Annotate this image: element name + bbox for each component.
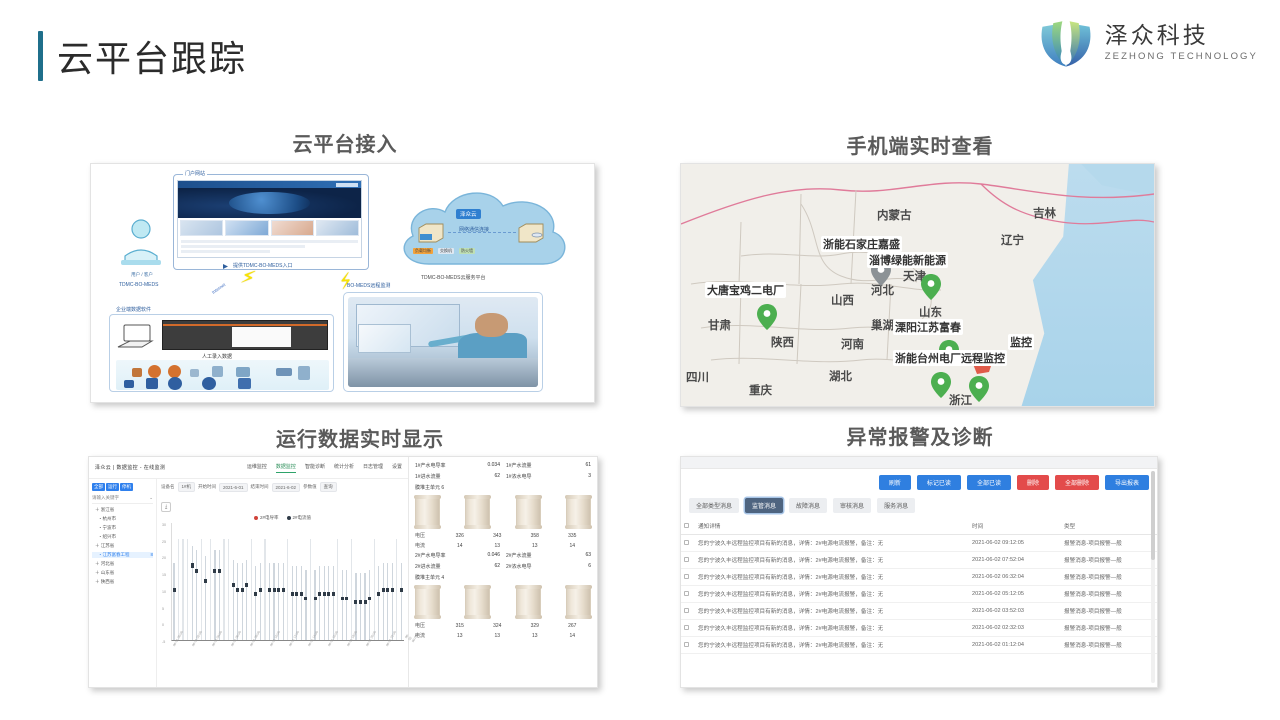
alarm-time: 2021-06-02 02:32:03 xyxy=(969,620,1061,637)
readings-value: 13 xyxy=(516,633,554,639)
readings-row: 电流14131314 xyxy=(415,542,591,549)
y-axis-tick: 20 xyxy=(162,556,166,560)
tree-item[interactable]: ＋ 陕西省 xyxy=(92,579,153,585)
y-axis-tick: 0 xyxy=(162,623,164,627)
y-axis-tick: 15 xyxy=(162,573,166,577)
alarm-type: 报警消息-项目报警—般 xyxy=(1061,535,1157,552)
site-label[interactable]: 溧阳江苏富春 xyxy=(893,319,963,335)
row-checkbox-cell[interactable] xyxy=(681,569,695,586)
dashboard-nav-item[interactable]: 日志管理 xyxy=(363,463,383,473)
panel-realtime-data: 泽众云 | 数据监控 - 在线监测 运维监控数据监控智能诊断统计分析日志管理设置… xyxy=(88,456,598,688)
chart-bar xyxy=(333,566,334,640)
table-row[interactable]: 您的宁波久丰远程监控项目有新的消息，详情：2#电源电流报警，备注：无2021-0… xyxy=(681,535,1157,552)
server-icon xyxy=(416,222,446,244)
alarm-tab[interactable]: 审核消息 xyxy=(833,498,871,513)
chart-bar xyxy=(233,560,234,640)
website-hero-globe xyxy=(178,188,361,218)
portal-website-screenshot xyxy=(177,180,362,258)
readings-value: 267 xyxy=(554,623,592,629)
membrane-stack-icon xyxy=(465,585,490,619)
checkbox-icon[interactable] xyxy=(684,557,689,562)
chart-bar xyxy=(210,539,211,640)
alarm-action-button[interactable]: 删除 xyxy=(1017,475,1049,490)
panel-alarm-diagnosis: 刷新标记已读全部已读删除全部删除导出报表 全部类型消息监管消息故障消息审核消息服… xyxy=(680,456,1158,688)
user-icon xyxy=(113,216,169,274)
dashboard-nav-item[interactable]: 智能诊断 xyxy=(305,463,325,473)
chart-bar xyxy=(196,550,197,640)
tree-item[interactable]: ＋ 江苏省 xyxy=(92,543,153,549)
chart-bar-cap xyxy=(391,588,394,592)
chart-bar-cap xyxy=(291,592,294,596)
membrane-stack-icon xyxy=(516,495,541,529)
tree-item-badge: 8 xyxy=(150,552,153,557)
alarm-time: 2021-06-02 01:12:04 xyxy=(969,637,1061,654)
alarm-tab[interactable]: 故障消息 xyxy=(789,498,827,513)
alarm-detail[interactable]: 您的宁波久丰远程监控项目有新的消息，详情：2#电源电流报警，备注：无 xyxy=(695,637,969,654)
device-tree: 全部运行停机 请输入关键字 ⌄ ＋ 浙江省・杭州市・宁波市・绍兴市＋ 江苏省・江… xyxy=(89,479,157,687)
param-filter-label: 参数值 xyxy=(303,484,317,490)
website-topbar xyxy=(178,181,361,188)
chart-bar-cap xyxy=(195,569,198,574)
alarm-table-header: 通知详情 时间 类型 xyxy=(681,518,1157,535)
website-card xyxy=(225,220,268,236)
website-text-row xyxy=(181,245,305,248)
chart-bar xyxy=(346,570,347,640)
cloud-access-diagram: 用户 / 客户 门户网站 提供TDMC-BO-MEDS入口 Internet ⚡… xyxy=(91,164,594,402)
checkbox-icon[interactable] xyxy=(684,625,689,630)
metric-label: 1#产水电导率 xyxy=(415,462,446,469)
unit-readings-table: 电压315324329267电流13131314 xyxy=(415,622,591,639)
province-label: 陕西 xyxy=(771,334,794,350)
province-label: 河南 xyxy=(841,336,864,352)
alarm-type: 报警消息-项目报警—般 xyxy=(1061,569,1157,586)
readings-row: 电流13131314 xyxy=(415,632,591,639)
chart-bar xyxy=(205,556,206,640)
computer-icon xyxy=(116,323,156,349)
chart-bar xyxy=(187,539,188,640)
chart-bar xyxy=(337,539,338,640)
cloud-caption: TDMC-BO-MEDS云服务平台 xyxy=(421,274,485,281)
metric-value: 62 xyxy=(494,563,500,570)
portal-label: 门户网站 xyxy=(183,170,207,177)
chart-bar-cap xyxy=(332,592,335,596)
readings-label: 电压 xyxy=(415,532,441,539)
table-row[interactable]: 您的宁波久丰远程监控项目有新的消息，详情：2#电源电流报警，备注：无2021-0… xyxy=(681,603,1157,620)
website-card xyxy=(180,220,223,236)
metric-row: 2#产水流量63 xyxy=(506,552,591,559)
alarm-detail[interactable]: 您的宁波久丰远程监控项目有新的消息，详情：2#电源电流报警，备注：无 xyxy=(695,586,969,603)
alarm-type: 报警消息-项目报警—般 xyxy=(1061,637,1157,654)
alarm-time: 2021-06-02 06:32:04 xyxy=(969,569,1061,586)
alarm-action-button[interactable]: 刷新 xyxy=(879,475,911,490)
user-label: 用户 / 客户 xyxy=(113,272,171,278)
device-filter-label: 设备名 xyxy=(161,484,175,490)
alarm-tab[interactable]: 全部类型消息 xyxy=(689,498,739,513)
process-flow-diagram xyxy=(116,360,329,390)
alarm-action-button[interactable]: 导出报表 xyxy=(1105,475,1149,490)
chart-bar-cap xyxy=(268,588,271,592)
metric-label: 1#进水流量 xyxy=(415,473,441,480)
province-label: 重庆 xyxy=(749,382,772,398)
tree-item[interactable]: ・江苏富春工程8 xyxy=(92,552,153,558)
panel-title-alarm: 异常报警及诊断 xyxy=(770,421,1070,450)
dashboard-nav[interactable]: 运维监控数据监控智能诊断统计分析日志管理设置 xyxy=(247,463,402,473)
y-axis-tick: -5 xyxy=(162,640,165,644)
flow-node xyxy=(148,365,161,378)
province-label: 内蒙古 xyxy=(877,207,912,223)
dashboard-nav-item[interactable]: 数据监控 xyxy=(276,463,296,473)
chart-bar xyxy=(255,566,256,640)
alarm-detail[interactable]: 您的宁波久丰远程监控项目有新的消息，详情：2#电源电流报警，备注：无 xyxy=(695,603,969,620)
panel-title-cloud-access: 云平台接入 xyxy=(200,128,490,157)
row-checkbox-cell[interactable] xyxy=(681,603,695,620)
alarm-table: 通知详情 时间 类型 您的宁波久丰远程监控项目有新的消息，详情：2#电源电流报警… xyxy=(681,518,1157,654)
alarm-tab[interactable]: 监管消息 xyxy=(745,498,783,513)
chart-filters[interactable]: 设备名 1#机 开始时间 2021-6-01 结束时间 2021-6-02 参数… xyxy=(161,482,404,492)
checkbox-icon[interactable] xyxy=(684,591,689,596)
chart-bar xyxy=(396,539,397,640)
enterprise-software-box: 企业端数据软件 人工录入数据 xyxy=(109,314,334,392)
metric-value: 0.034 xyxy=(487,462,500,469)
data-dashboard: 泽众云 | 数据监控 - 在线监测 运维监控数据监控智能诊断统计分析日志管理设置… xyxy=(89,457,597,687)
brand-name-cn: 泽众科技 xyxy=(1105,24,1258,48)
chart-bar-cap xyxy=(245,583,248,587)
chart-bar-cap xyxy=(314,597,317,601)
chart-bar xyxy=(283,563,284,640)
row-checkbox-cell[interactable] xyxy=(681,586,695,603)
chart-bar-cap xyxy=(364,600,367,603)
page-title: 云平台跟踪 xyxy=(38,30,247,82)
chart-bar xyxy=(246,560,247,640)
query-button[interactable]: 查询 xyxy=(320,482,337,492)
metric-value: 3 xyxy=(588,473,591,480)
legend-entry: 2#电导率 xyxy=(254,515,279,521)
tree-item[interactable]: ・杭州市 xyxy=(92,516,153,522)
alarm-action-button[interactable]: 标记已读 xyxy=(917,475,961,490)
col-detail: 通知详情 xyxy=(695,518,969,535)
chart-bar xyxy=(214,550,215,640)
tree-search-row[interactable]: 请输入关键字 ⌄ xyxy=(92,495,153,504)
y-axis-tick: 30 xyxy=(162,523,166,527)
chart-bar xyxy=(296,566,297,640)
readings-value: 343 xyxy=(479,533,517,539)
chart-bar xyxy=(192,546,193,640)
alarm-topbar xyxy=(681,457,1157,469)
membrane-stack-group xyxy=(415,495,591,529)
chart-bar xyxy=(237,563,238,640)
readings-row: 电压326343358335 xyxy=(415,532,591,539)
tree-filter-button[interactable]: 全部 xyxy=(92,483,105,491)
start-date-label: 开始时间 xyxy=(198,484,216,490)
remote-monitor-label: BO-MEDS远程监测 xyxy=(347,282,390,289)
metric-value: 63 xyxy=(585,552,591,559)
tree-item-list[interactable]: ＋ 浙江省・杭州市・宁波市・绍兴市＋ 江苏省・江苏富春工程8＋ 河北省＋ 山东省… xyxy=(92,507,153,585)
chart-bar xyxy=(360,573,361,640)
chart-bar-cap xyxy=(368,597,371,601)
metric-value: 62 xyxy=(494,473,500,480)
col-time: 时间 xyxy=(969,518,1061,535)
tree-filter-buttons[interactable]: 全部运行停机 xyxy=(92,483,153,491)
start-date-input[interactable]: 2021-6-01 xyxy=(219,483,248,492)
province-label: 吉林 xyxy=(1033,205,1056,221)
dashboard-nav-item[interactable]: 运维监控 xyxy=(247,463,267,473)
metric-label: 1#浓水电导 xyxy=(506,473,532,480)
chart-bar xyxy=(378,566,379,640)
control-room-photo xyxy=(343,292,543,392)
checkbox-icon[interactable] xyxy=(684,608,689,613)
alarm-time: 2021-06-02 09:12:05 xyxy=(969,535,1061,552)
chart-bar xyxy=(374,539,375,640)
readings-value: 14 xyxy=(554,543,592,549)
website-card xyxy=(316,220,359,236)
membrane-stack-icon xyxy=(415,585,440,619)
alarm-detail[interactable]: 您的宁波久丰远程监控项目有新的消息，详情：2#电源电流报警，备注：无 xyxy=(695,552,969,569)
alarm-tab[interactable]: 服务消息 xyxy=(877,498,915,513)
chart-bar-cap xyxy=(204,579,207,583)
site-label[interactable]: 浙能石家庄嘉盛 xyxy=(821,236,902,252)
chart-bar xyxy=(178,539,179,640)
chart-bar-cap xyxy=(236,588,239,592)
flow-node xyxy=(168,377,182,390)
map-pin-icon[interactable] xyxy=(931,372,951,398)
scrollbar-thumb[interactable] xyxy=(1151,471,1155,560)
network-label: 网络通信连接 xyxy=(459,226,489,233)
checkbox-icon[interactable] xyxy=(684,540,689,545)
readings-value: 13 xyxy=(441,633,479,639)
legend-item: 交换机 xyxy=(438,248,454,254)
alarm-time: 2021-06-02 03:52:03 xyxy=(969,603,1061,620)
lightning-icon: ⚡ xyxy=(239,267,257,290)
tree-item[interactable]: ・宁波市 xyxy=(92,525,153,531)
manual-entry-label: 人工录入数据 xyxy=(202,353,232,360)
readings-value: 329 xyxy=(516,623,554,629)
metric-value: 61 xyxy=(585,462,591,469)
legend-item: 防火墙 xyxy=(459,248,475,254)
col-type: 类型 xyxy=(1061,518,1157,535)
tree-item[interactable]: ＋ 浙江省 xyxy=(92,507,153,513)
chart-bar-cap xyxy=(400,588,403,592)
legend-entry: 2#电流值 xyxy=(287,515,312,521)
chart-bar xyxy=(278,563,279,640)
province-label: 甘肃 xyxy=(708,317,731,333)
chart-bar xyxy=(364,573,365,640)
lotus-logo-icon xyxy=(1037,14,1095,72)
y-axis-tick: 5 xyxy=(162,607,164,611)
chart-bar xyxy=(251,539,252,640)
cloud-badge: 泽众云 xyxy=(456,209,481,219)
alarm-detail[interactable]: 您的宁波久丰远程监控项目有新的消息，详情：2#电源电流报警，备注：无 xyxy=(695,535,969,552)
chart-bar xyxy=(319,566,320,640)
readings-value: 14 xyxy=(554,633,592,639)
membrane-stack-group xyxy=(415,585,591,619)
chart-bar xyxy=(292,566,293,640)
site-label[interactable]: 浙能台州电厂远程监控 xyxy=(893,350,1007,366)
alarm-time: 2021-06-02 07:52:04 xyxy=(969,552,1061,569)
alarm-type: 报警消息-项目报警—般 xyxy=(1061,620,1157,637)
table-row[interactable]: 您的宁波久丰远程监控项目有新的消息，详情：2#电源电流报警，备注：无2021-0… xyxy=(681,552,1157,569)
membrane-stack-icon xyxy=(465,495,490,529)
chart-bar-cap xyxy=(277,588,280,592)
dashboard-nav-item[interactable]: 统计分析 xyxy=(334,463,354,473)
title-accent-bar xyxy=(38,31,43,81)
readings-value: 326 xyxy=(441,533,479,539)
flow-node xyxy=(212,366,223,377)
x-axis-tick: 06-01 12:00 xyxy=(288,630,300,647)
alarm-tabs[interactable]: 全部类型消息监管消息故障消息审核消息服务消息 xyxy=(681,494,1157,518)
select-all-checkbox-cell[interactable] xyxy=(681,518,695,535)
row-checkbox-cell[interactable] xyxy=(681,637,695,654)
chart-bar xyxy=(173,563,174,640)
metric-value: 6 xyxy=(588,563,591,570)
readings-value: 335 xyxy=(554,533,592,539)
chart-bar-cap xyxy=(345,597,348,601)
legend-item: 负载均衡 xyxy=(413,248,433,254)
panel-cloud-access: 用户 / 客户 门户网站 提供TDMC-BO-MEDS入口 Internet ⚡… xyxy=(90,163,595,403)
timeseries-chart: 302520151050-506-01 00:0006-01 02:0006-0… xyxy=(171,523,404,641)
chart-bar xyxy=(351,539,352,640)
chart-bar xyxy=(392,563,393,640)
metric-row: 1#浓水电导3 xyxy=(506,473,591,480)
chart-bar-cap xyxy=(295,592,298,596)
table-row[interactable]: 您的宁波久丰远程监控项目有新的消息，详情：2#电源电流报警，备注：无2021-0… xyxy=(681,569,1157,586)
readings-row: 电压315324329267 xyxy=(415,622,591,629)
checkbox-icon[interactable] xyxy=(684,523,689,528)
tree-filter-button[interactable]: 运行 xyxy=(106,483,119,491)
chart-bar xyxy=(260,563,261,640)
flow-node xyxy=(202,377,216,390)
unit-label: 膜堆主单元 6 xyxy=(415,484,591,491)
readings-value: 324 xyxy=(479,623,517,629)
table-row[interactable]: 您的宁波久丰远程监控项目有新的消息，详情：2#电源电流报警，备注：无2021-0… xyxy=(681,586,1157,603)
panel-title-mobile-view: 手机端实时查看 xyxy=(775,130,1065,159)
alarm-console: 刷新标记已读全部已读删除全部删除导出报表 全部类型消息监管消息故障消息审核消息服… xyxy=(681,457,1157,687)
chevron-down-icon[interactable]: ⌄ xyxy=(149,495,153,501)
chart-bar-cap xyxy=(318,592,321,596)
readings-label: 电流 xyxy=(415,632,441,639)
row-checkbox-cell[interactable] xyxy=(681,535,695,552)
tree-item[interactable]: ＋ 河北省 xyxy=(92,561,153,567)
readings-value: 13 xyxy=(479,543,517,549)
row-checkbox-cell[interactable] xyxy=(681,552,695,569)
dashboard-nav-item[interactable]: 设置 xyxy=(392,463,402,473)
enterprise-label: 企业端数据软件 xyxy=(116,306,151,313)
flow-node xyxy=(132,368,142,377)
alarm-detail[interactable]: 您的宁波久丰远程监控项目有新的消息，详情：2#电源电流报警，备注：无 xyxy=(695,569,969,586)
alarm-type: 报警消息-项目报警—般 xyxy=(1061,586,1157,603)
panel-mobile-view: 内蒙古吉林辽宁天津河北山西山东甘肃陕西河南巢湖湖北重庆四川浙江 浙能石家庄嘉盛淄… xyxy=(680,163,1155,407)
chart-bar xyxy=(273,563,274,640)
alarm-scrollbar[interactable] xyxy=(1151,471,1155,683)
flow-node xyxy=(146,378,158,389)
site-label[interactable]: 淄博绿能新能源 xyxy=(867,252,948,268)
chart-bar xyxy=(301,566,302,640)
row-checkbox-cell[interactable] xyxy=(681,620,695,637)
panel-title-realtime-data: 运行数据实时显示 xyxy=(210,423,510,452)
control-screen xyxy=(358,324,411,353)
tree-filter-button[interactable]: 停机 xyxy=(120,483,133,491)
alarm-detail[interactable]: 您的宁波久丰远程监控项目有新的消息，详情：2#电源电流报警，备注：无 xyxy=(695,620,969,637)
table-row[interactable]: 您的宁波久丰远程监控项目有新的消息，详情：2#电源电流报警，备注：无2021-0… xyxy=(681,637,1157,654)
chart-bar xyxy=(328,566,329,640)
chart-bar-cap xyxy=(273,588,276,592)
end-date-label: 结束时间 xyxy=(251,484,269,490)
checkbox-icon[interactable] xyxy=(684,642,689,647)
alarm-type: 报警消息-项目报警—般 xyxy=(1061,603,1157,620)
device-filter-value[interactable]: 1#机 xyxy=(178,482,196,492)
metrics-unit-2: 2#产水电导率0.0462#进水流量622#产水流量632#浓水电导6膜堆主单元… xyxy=(415,552,591,639)
chart-bar-cap xyxy=(323,592,326,596)
checkbox-icon[interactable] xyxy=(684,574,689,579)
metric-row: 1#进水流量62 xyxy=(415,473,500,480)
chart-bar-cap xyxy=(327,592,330,596)
end-date-input[interactable]: 2021-6-02 xyxy=(272,483,301,492)
operator-head xyxy=(475,313,507,336)
chart-bar-cap xyxy=(382,588,385,592)
metric-row: 1#产水流量61 xyxy=(506,462,591,469)
metric-row: 2#产水电导率0.046 xyxy=(415,552,500,559)
chart-bar-cap xyxy=(386,588,389,592)
metric-label: 2#进水流量 xyxy=(415,563,441,570)
chart-bar xyxy=(369,570,370,640)
brand-logo: 泽众科技 ZEZHONG TECHNOLOGY xyxy=(1037,14,1258,72)
map-pin-icon[interactable] xyxy=(921,274,941,300)
site-label[interactable]: 大唐宝鸡二电厂 xyxy=(705,282,786,298)
metric-row: 1#产水电导率0.034 xyxy=(415,462,500,469)
alarm-action-button[interactable]: 全部删除 xyxy=(1055,475,1099,490)
province-label: 山东 xyxy=(919,304,942,320)
readings-label: 电流 xyxy=(415,542,441,549)
chart-bar xyxy=(310,539,311,640)
chart-bar-cap xyxy=(241,588,244,592)
readings-value: 14 xyxy=(441,543,479,549)
province-label: 巢湖 xyxy=(871,317,894,333)
readings-value: 315 xyxy=(441,623,479,629)
chart-bar xyxy=(242,563,243,640)
flow-node xyxy=(238,378,251,389)
flow-node xyxy=(190,369,199,377)
dashboard-brand: 泽众云 | 数据监控 - 在线监测 xyxy=(95,464,165,471)
alarm-action-button[interactable]: 全部已读 xyxy=(967,475,1011,490)
alarm-action-buttons[interactable]: 刷新标记已读全部已读删除全部删除导出报表 xyxy=(681,469,1157,494)
unit-readings-table: 电压326343358335电流14131314 xyxy=(415,532,591,549)
metric-label: 2#产水电导率 xyxy=(415,552,446,559)
dashboard-header: 泽众云 | 数据监控 - 在线监测 运维监控数据监控智能诊断统计分析日志管理设置 xyxy=(89,457,408,479)
map-pin-icon[interactable] xyxy=(757,304,777,330)
chart-bar-cap xyxy=(359,600,362,603)
chart-bar xyxy=(228,539,229,640)
tree-item[interactable]: ＋ 山东省 xyxy=(92,570,153,576)
chart-bar-cap xyxy=(300,592,303,596)
chart-bar xyxy=(201,539,202,640)
readings-label: 电压 xyxy=(415,622,441,629)
flow-node xyxy=(298,366,310,380)
chart-bar xyxy=(264,539,265,640)
website-text-rows xyxy=(178,238,361,257)
chart-bar-cap xyxy=(191,563,194,568)
membrane-stack-icon xyxy=(566,495,591,529)
export-icon[interactable]: ⤓ xyxy=(161,502,171,512)
readings-value: 13 xyxy=(479,633,517,639)
table-row[interactable]: 您的宁波久丰远程监控项目有新的消息，详情：2#电源电流报警，备注：无2021-0… xyxy=(681,620,1157,637)
site-label[interactable]: 监控 xyxy=(1008,334,1034,350)
chart-bar xyxy=(305,570,306,640)
china-map[interactable]: 内蒙古吉林辽宁天津河北山西山东甘肃陕西河南巢湖湖北重庆四川浙江 浙能石家庄嘉盛淄… xyxy=(681,164,1154,406)
chart-bar xyxy=(387,563,388,640)
readings-value: 358 xyxy=(516,533,554,539)
map-pin-icon[interactable] xyxy=(969,376,989,402)
x-axis-tick: 06-01 04:00 xyxy=(211,630,223,647)
tree-item[interactable]: ・绍兴市 xyxy=(92,534,153,540)
